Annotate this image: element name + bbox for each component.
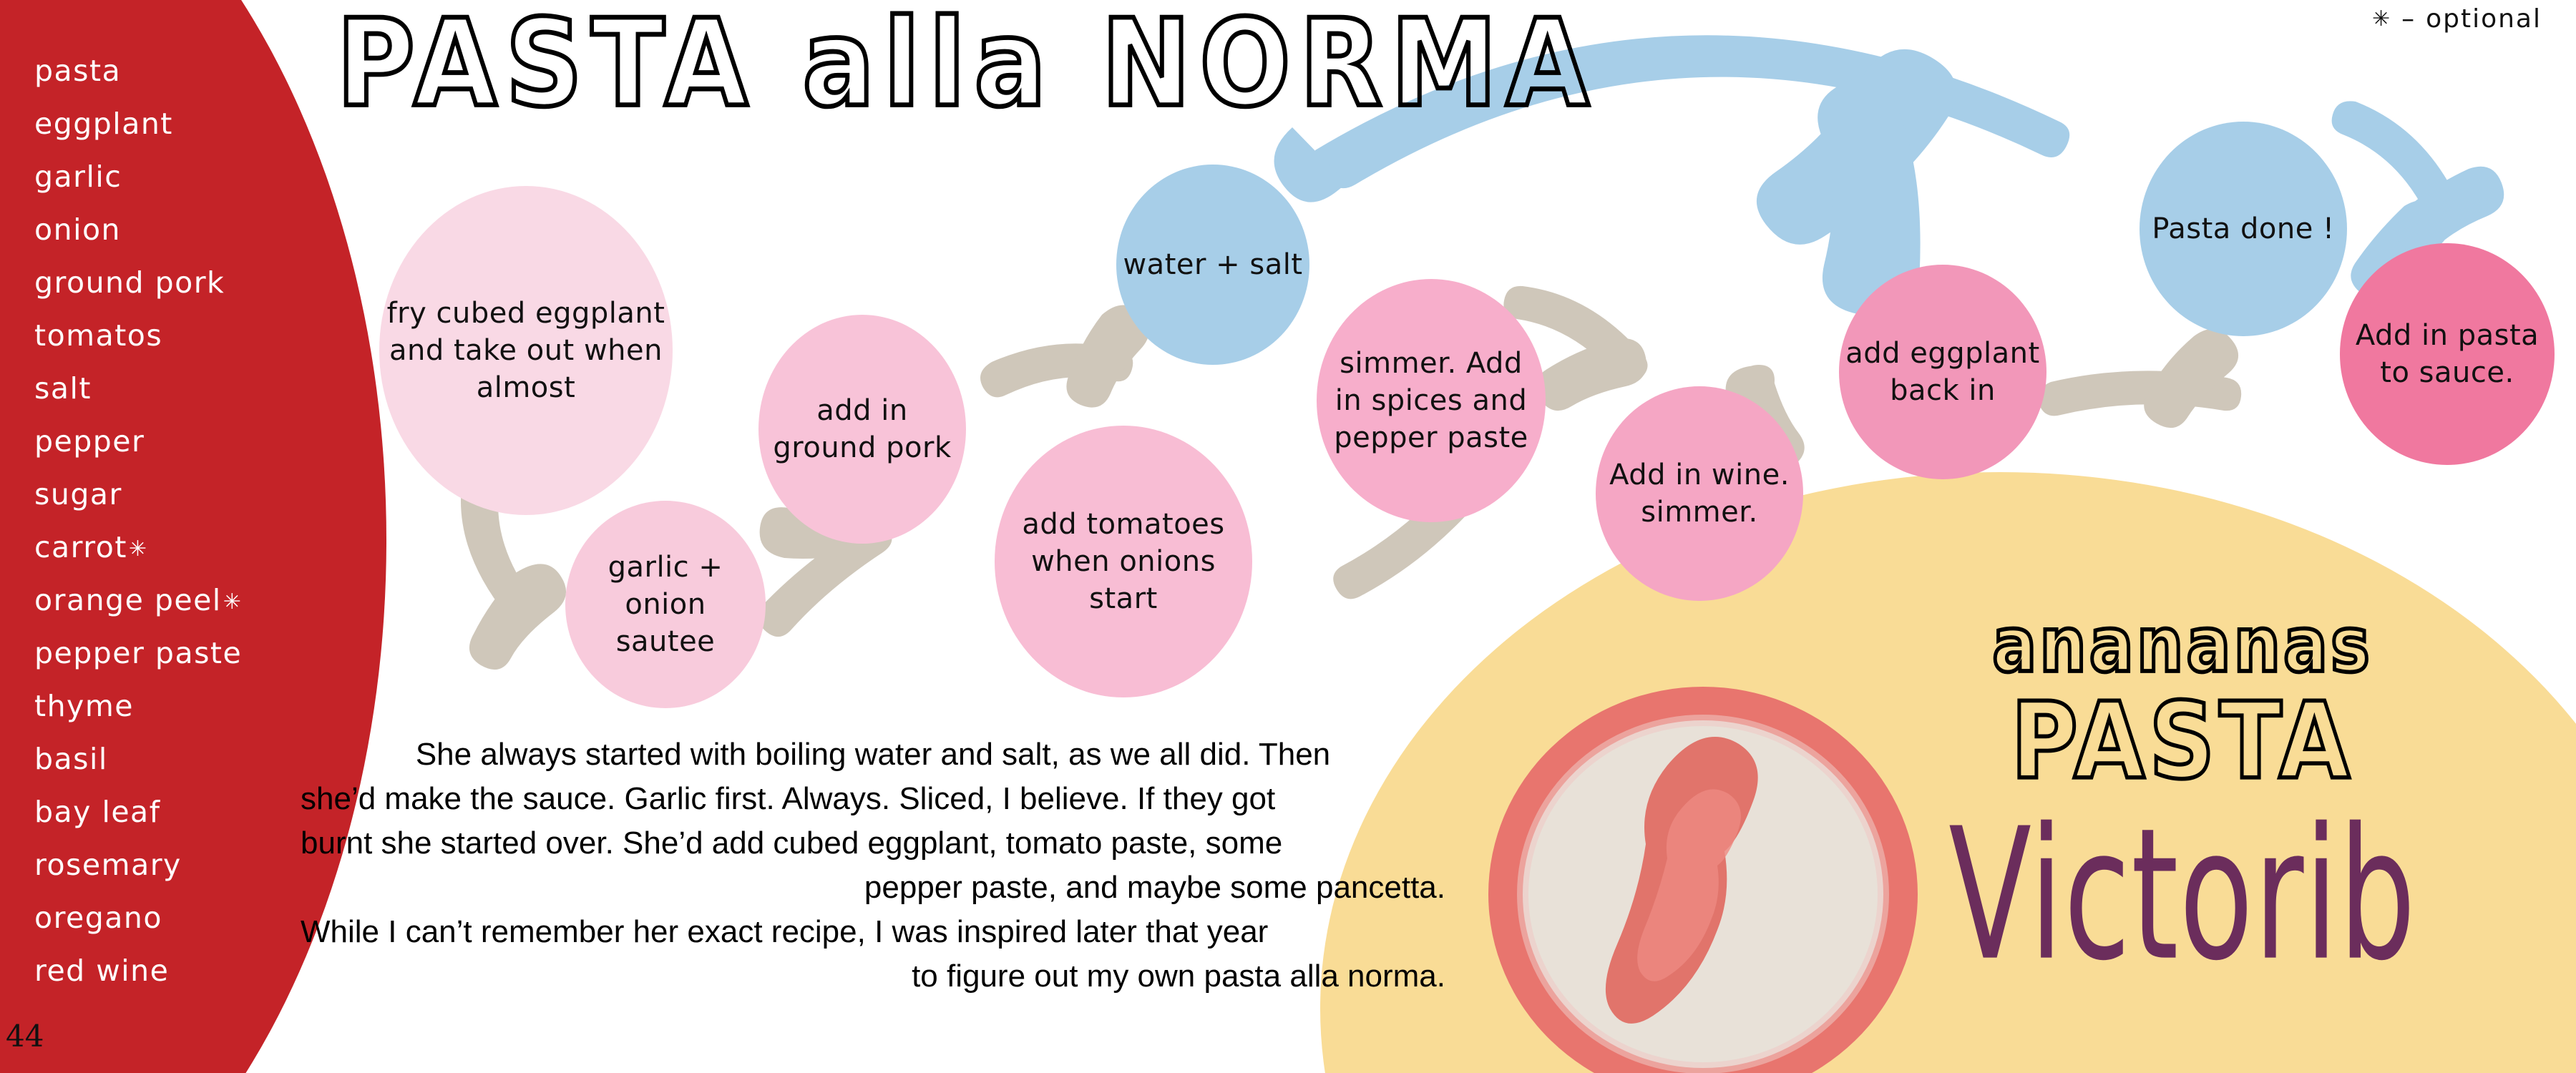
legend-dash: – xyxy=(2401,4,2416,34)
ingredient-item: bay leaf xyxy=(34,785,342,838)
step-bubble-eggplant-back: add eggplant back in xyxy=(1839,265,2046,479)
step-label: garlic + onion sautee xyxy=(565,549,766,660)
recipe-page: PASTA alla NORMA ✳ – optional pasta eggp… xyxy=(0,0,2576,1073)
step-label: Add in wine. simmer. xyxy=(1596,456,1803,531)
step-label: water + salt xyxy=(1117,246,1308,283)
story-line: While I can’t remember her exact recipe,… xyxy=(301,910,1445,954)
ingredient-item: sugar xyxy=(34,468,342,521)
story-paragraph: She always started with boiling water an… xyxy=(301,733,1445,999)
brand-word: PASTA xyxy=(1803,680,2562,803)
step-label: add eggplant back in xyxy=(1839,335,2046,409)
step-label: fry cubed eggplant and take out when alm… xyxy=(379,295,673,406)
story-line: She always started with boiling water an… xyxy=(301,733,1445,777)
step-bubble-water-salt: water + salt xyxy=(1116,165,1309,365)
story-line: burnt she started over. She’d add cubed … xyxy=(301,821,1445,866)
step-bubble-garlic-onion: garlic + onion sautee xyxy=(565,501,766,708)
ingredient-item: pasta xyxy=(34,44,342,97)
ingredient-item: thyme xyxy=(34,680,342,733)
page-number: 44 xyxy=(6,1019,44,1054)
ingredient-item: orange peel✳ xyxy=(34,574,342,627)
legend-label: optional xyxy=(2426,4,2542,34)
ingredient-item: oregano xyxy=(34,891,342,944)
step-bubble-ground-pork: add in ground pork xyxy=(758,315,966,544)
ingredient-item: carrot✳ xyxy=(34,521,342,574)
step-bubble-add-wine: Add in wine. simmer. xyxy=(1596,386,1803,601)
step-label: add tomatoes when onions start xyxy=(995,506,1252,617)
ingredient-item: rosemary xyxy=(34,838,342,891)
story-line: to figure out my own pasta alla norma. xyxy=(301,954,1445,999)
story-line: pepper paste, and maybe some pancetta. xyxy=(301,866,1445,910)
brand-author-name: Victorib xyxy=(1833,790,2531,1001)
ingredient-item: pepper paste xyxy=(34,627,342,680)
optional-legend: ✳ – optional xyxy=(2372,4,2542,34)
ingredient-item: tomatos xyxy=(34,309,342,362)
step-label: Pasta done ! xyxy=(2146,210,2340,248)
step-label: add in ground pork xyxy=(758,392,966,466)
ingredient-item: onion xyxy=(34,203,342,256)
step-bubble-simmer-spices: simmer. Add in spices and pepper paste xyxy=(1317,279,1546,522)
step-bubble-add-tomatoes: add tomatoes when onions start xyxy=(995,426,1252,697)
ingredient-item: red wine xyxy=(34,944,342,997)
step-label: Add in pasta to sauce. xyxy=(2340,317,2555,391)
ingredient-list: pasta eggplant garlic onion ground pork … xyxy=(34,44,342,997)
brand-block: anananas PASTA Victorib xyxy=(1803,601,2562,943)
ingredient-item: salt xyxy=(34,362,342,415)
step-label: simmer. Add in spices and pepper paste xyxy=(1317,345,1546,456)
step-bubble-pasta-done: Pasta done ! xyxy=(2140,122,2347,336)
ingredient-item: eggplant xyxy=(34,97,342,150)
brand-possessive: anananas xyxy=(1803,601,2562,689)
ingredient-item: basil xyxy=(34,733,342,785)
page-title: PASTA alla NORMA xyxy=(336,0,1598,134)
story-line: she’d make the sauce. Garlic first. Alwa… xyxy=(301,777,1445,821)
ingredient-item: garlic xyxy=(34,150,342,203)
step-bubble-pasta-sauce: Add in pasta to sauce. xyxy=(2340,243,2555,465)
asterisk-icon: ✳ xyxy=(2372,9,2391,30)
ingredient-item: ground pork xyxy=(34,256,342,309)
step-bubble-fry-eggplant: fry cubed eggplant and take out when alm… xyxy=(379,186,673,515)
ingredient-item: pepper xyxy=(34,415,342,468)
